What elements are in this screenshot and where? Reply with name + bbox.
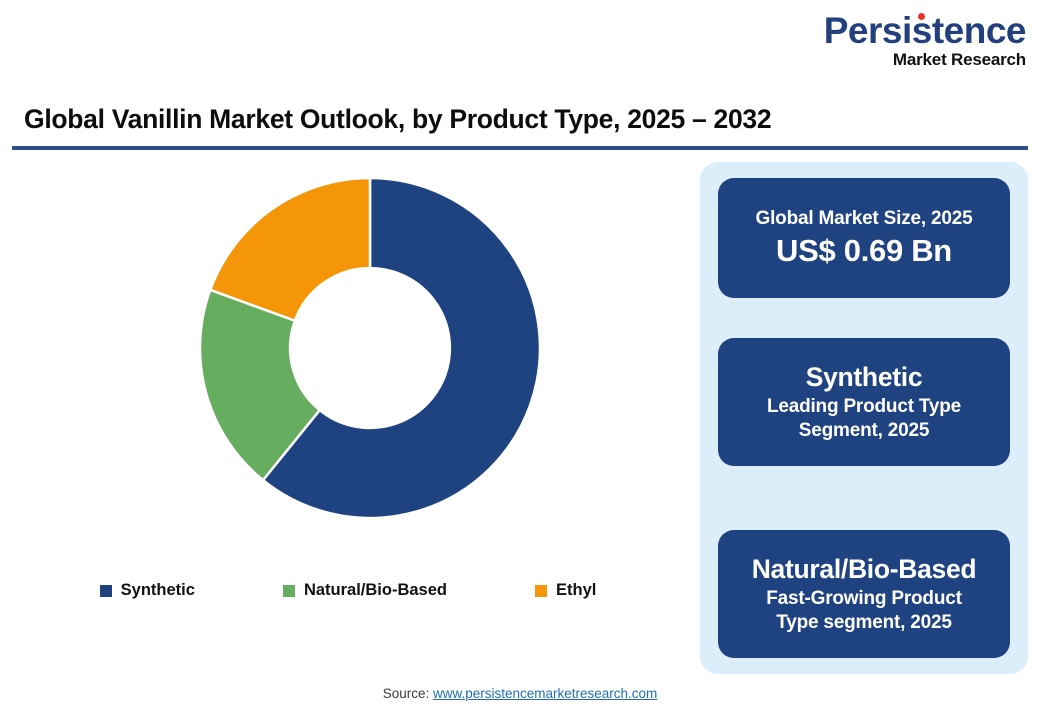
- legend-swatch-ethyl: [535, 585, 547, 597]
- market-size-value: US$ 0.69 Bn: [776, 232, 952, 269]
- legend-swatch-synthetic: [100, 585, 112, 597]
- donut-chart-area: Synthetic Natural/Bio-Based Ethyl: [12, 156, 684, 626]
- source-label: Source:: [383, 686, 433, 701]
- market-size-caption: Global Market Size, 2025: [756, 207, 973, 231]
- legend-swatch-natural-bio-based: [283, 585, 295, 597]
- infographic-page: Persistence Market Research Global Vanil…: [0, 0, 1040, 720]
- brand-logo-primary-text: Persistence: [824, 10, 1026, 51]
- brand-logo: Persistence Market Research: [824, 12, 1026, 68]
- legend-label-natural-bio-based: Natural/Bio-Based: [304, 581, 447, 600]
- stat-card-leading-segment: Synthetic Leading Product Type Segment, …: [718, 338, 1010, 466]
- brand-logo-secondary: Market Research: [824, 51, 1026, 68]
- legend-label-ethyl: Ethyl: [556, 581, 596, 600]
- legend-item-ethyl[interactable]: Ethyl: [535, 581, 596, 600]
- legend-item-natural-bio-based[interactable]: Natural/Bio-Based: [283, 581, 447, 600]
- donut-chart-svg: [198, 176, 542, 520]
- legend-item-synthetic[interactable]: Synthetic: [100, 581, 195, 600]
- leading-segment-name: Synthetic: [806, 361, 923, 393]
- source-footer: Source: www.persistencemarketresearch.co…: [0, 686, 1040, 701]
- fastest-growing-segment-name: Natural/Bio-Based: [752, 553, 977, 585]
- donut-chart: [198, 176, 542, 520]
- title-divider: [12, 146, 1028, 150]
- source-link[interactable]: www.persistencemarketresearch.com: [433, 686, 657, 701]
- donut-slice-group: [200, 178, 540, 518]
- legend-label-synthetic: Synthetic: [121, 581, 195, 600]
- brand-logo-dot-icon: [918, 13, 925, 20]
- stat-card-fastest-growing-segment: Natural/Bio-Based Fast-Growing Product T…: [718, 530, 1010, 658]
- highlights-panel: Global Market Size, 2025 US$ 0.69 Bn Syn…: [700, 162, 1028, 674]
- fastest-growing-line2: Type segment, 2025: [776, 611, 952, 635]
- page-title: Global Vanillin Market Outlook, by Produ…: [24, 104, 771, 135]
- fastest-growing-line1: Fast-Growing Product: [766, 587, 962, 611]
- leading-segment-line1: Leading Product Type: [767, 395, 961, 419]
- leading-segment-line2: Segment, 2025: [799, 419, 929, 443]
- brand-logo-primary: Persistence: [824, 12, 1026, 49]
- stat-card-market-size: Global Market Size, 2025 US$ 0.69 Bn: [718, 178, 1010, 298]
- chart-legend: Synthetic Natural/Bio-Based Ethyl: [12, 581, 684, 600]
- donut-slice-ethyl[interactable]: [210, 178, 370, 321]
